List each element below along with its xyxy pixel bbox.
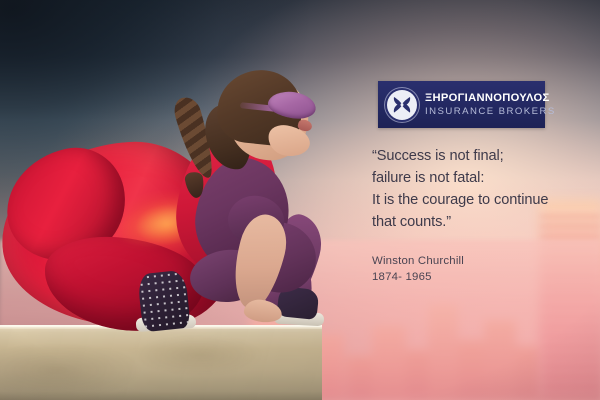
logo-subtitle: INSURANCE BROKERS — [425, 107, 556, 117]
butterfly-emblem-icon — [387, 90, 417, 120]
logo-company-name: ΞΗΡΟΓΙΑΝΝΟΠΟΥΛΟΣ — [425, 93, 556, 104]
quote-line-3: It is the courage to continue — [372, 189, 572, 211]
attribution-years: 1874- 1965 — [372, 269, 464, 285]
attribution-author: Winston Churchill — [372, 253, 464, 269]
quote-attribution: Winston Churchill 1874- 1965 — [372, 253, 464, 285]
brand-logo-panel[interactable]: ΞΗΡΟΓΙΑΝΝΟΠΟΥΛΟΣ INSURANCE BROKERS — [378, 81, 545, 128]
quote-line-4: that counts.” — [372, 211, 572, 233]
poster-image: ΞΗΡΟΓΙΑΝΝΟΠΟΥΛΟΣ INSURANCE BROKERS “Succ… — [0, 0, 600, 400]
logo-text-block: ΞΗΡΟΓΙΑΝΝΟΠΟΥΛΟΣ INSURANCE BROKERS — [425, 93, 556, 117]
quote-line-2: failure is not fatal: — [372, 167, 572, 189]
quote-line-1: “Success is not final; — [372, 145, 572, 167]
quote-text-block: “Success is not final; failure is not fa… — [372, 145, 572, 233]
